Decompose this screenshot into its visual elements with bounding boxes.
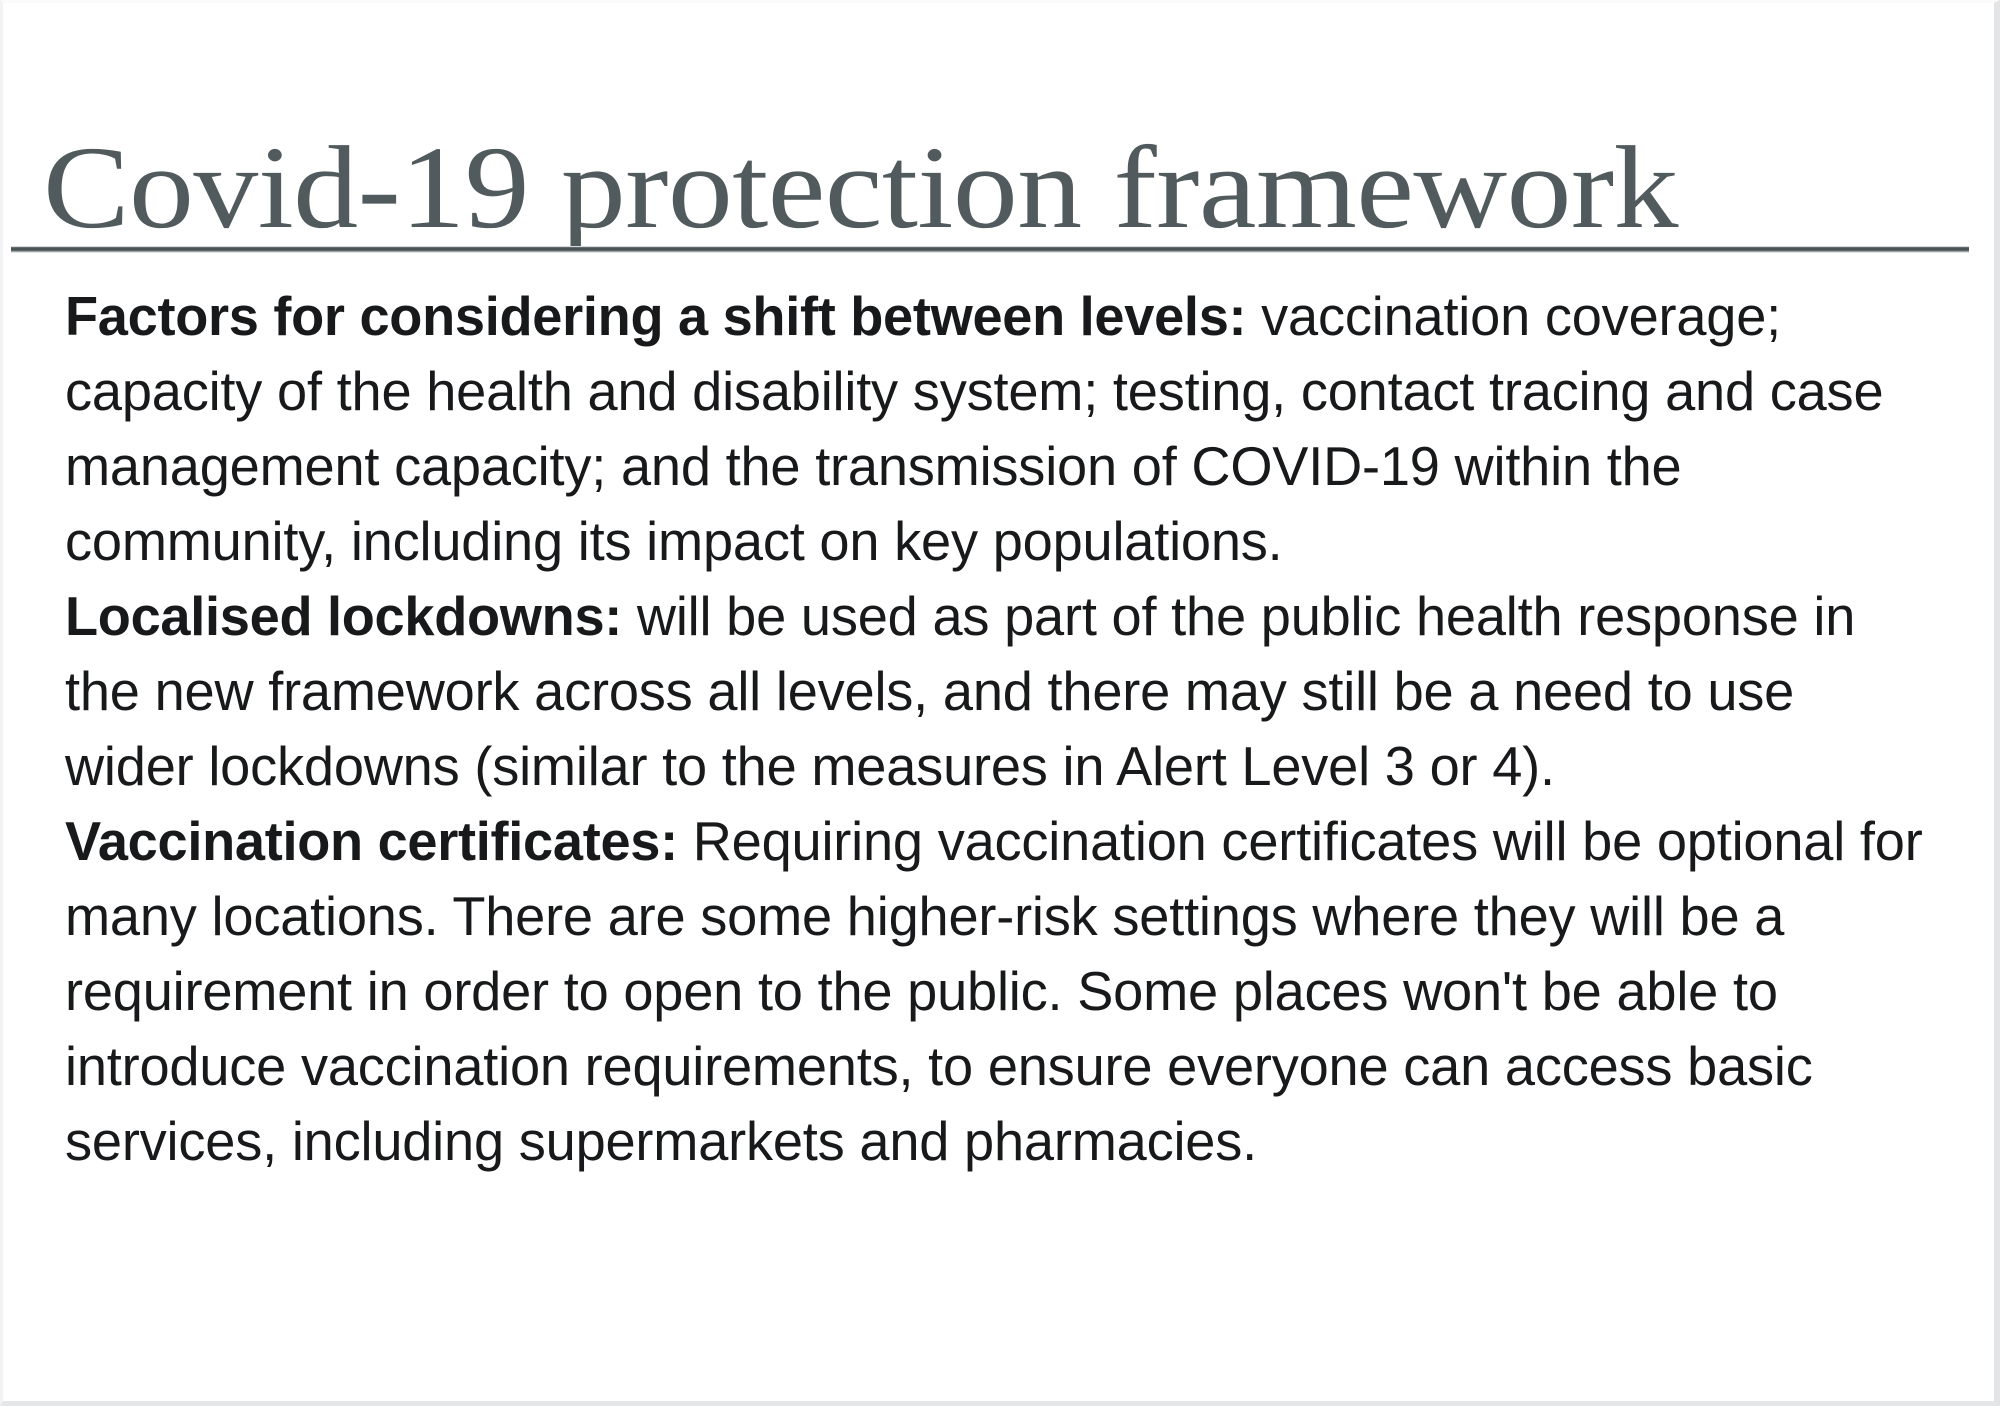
- page-inner: Covid-19 protection framework Factors fo…: [3, 3, 1994, 1401]
- paragraph-localised-lockdowns-lead: Localised lockdowns:: [65, 585, 622, 647]
- infographic-page: Covid-19 protection framework Factors fo…: [0, 0, 2000, 1406]
- paragraph-vaccination-certificates: Vaccination certificates: Requiring vacc…: [65, 804, 1927, 1179]
- body-content: Factors for considering a shift between …: [65, 279, 1927, 1179]
- paragraph-localised-lockdowns: Localised lockdowns: will be used as par…: [65, 579, 1927, 804]
- paragraph-vaccination-certificates-lead: Vaccination certificates:: [65, 810, 678, 872]
- title-divider-rule: [11, 246, 1969, 253]
- paragraph-factors: Factors for considering a shift between …: [65, 279, 1927, 579]
- paragraph-factors-lead: Factors for considering a shift between …: [65, 285, 1246, 347]
- page-title: Covid-19 protection framework: [43, 128, 2000, 248]
